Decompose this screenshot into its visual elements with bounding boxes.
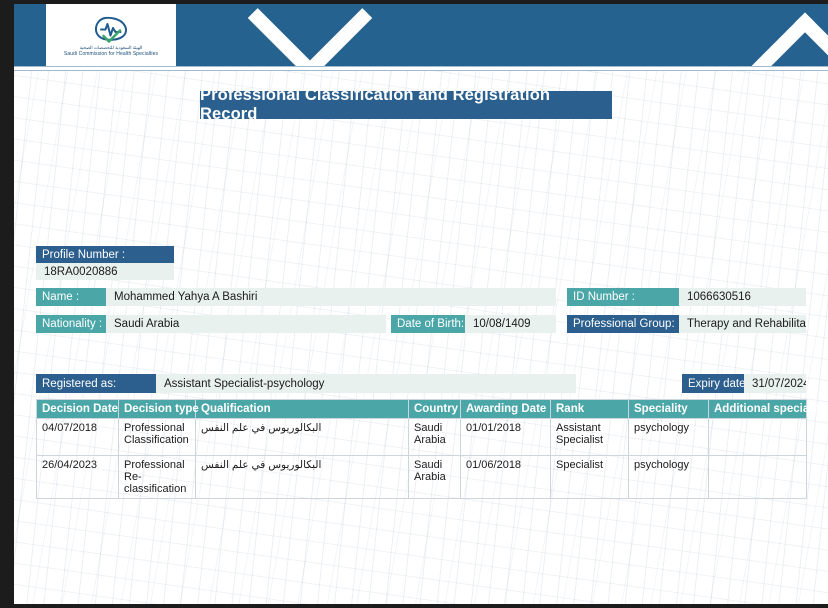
nationality-value: Saudi Arabia <box>106 315 386 333</box>
column-header-awarding-date: Awarding Date <box>461 400 551 419</box>
column-header-rank: Rank <box>551 400 629 419</box>
field-date-of-birth: Date of Birth: 10/08/1409 <box>391 315 556 333</box>
expiry-date-label: Expiry date : <box>682 374 744 393</box>
registered-as-label: Registered as: <box>36 374 156 393</box>
professional-group-value: Therapy and Rehabilitation <box>679 315 806 333</box>
field-expiry-date: Expiry date : 31/07/2024 <box>682 374 806 393</box>
document-body: Professional Classification and Registra… <box>14 71 828 604</box>
cell-speciality: psychology <box>629 419 709 456</box>
cell-country: Saudi Arabia <box>409 419 461 456</box>
profile-number-label: Profile Number : <box>36 246 174 263</box>
registration-history-table: Decision Date Decision type Qualificatio… <box>36 399 807 499</box>
field-registered-as: Registered as: Assistant Specialist-psyc… <box>36 374 576 393</box>
professional-group-label: Professional Group: <box>567 315 679 333</box>
cell-awarding-date: 01/06/2018 <box>461 456 551 499</box>
table-row: 04/07/2018 Professional Classification ا… <box>37 419 807 456</box>
cell-awarding-date: 01/01/2018 <box>461 419 551 456</box>
id-number-value: 1066630516 <box>679 288 806 306</box>
cell-speciality: psychology <box>629 456 709 499</box>
field-nationality: Nationality : Saudi Arabia <box>36 315 386 333</box>
page-title: Professional Classification and Registra… <box>200 91 612 119</box>
scfhs-lung-ecg-icon <box>90 14 132 44</box>
cell-decision-date: 04/07/2018 <box>37 419 119 456</box>
cell-rank: Specialist <box>551 456 629 499</box>
field-profile-number-label-chip: Profile Number : <box>36 246 174 263</box>
column-header-speciality: Speciality <box>629 400 709 419</box>
registered-as-value: Assistant Specialist-psychology <box>156 374 576 393</box>
chevron-up-decoration <box>739 13 828 66</box>
table-row: 26/04/2023 Professional Re-classificatio… <box>37 456 807 499</box>
document-header: الهيئة السعودية للتخصصات الصحية Saudi Co… <box>14 4 828 66</box>
cell-decision-date: 26/04/2023 <box>37 456 119 499</box>
logo-english-name: Saudi Commission for Health Specialties <box>64 51 158 57</box>
cell-country: Saudi Arabia <box>409 456 461 499</box>
date-of-birth-label: Date of Birth: <box>391 315 465 333</box>
nationality-label: Nationality : <box>36 315 106 333</box>
profile-number-value: 18RA0020886 <box>36 263 174 280</box>
certificate-page: الهيئة السعودية للتخصصات الصحية Saudi Co… <box>14 4 828 604</box>
scfhs-logo: الهيئة السعودية للتخصصات الصحية Saudi Co… <box>46 4 176 66</box>
cell-additional-speciality <box>709 456 807 499</box>
cell-decision-type: Professional Classification <box>119 419 196 456</box>
cell-additional-speciality <box>709 419 807 456</box>
cell-decision-type: Professional Re-classification <box>119 456 196 499</box>
cell-rank: Assistant Specialist <box>551 419 629 456</box>
column-header-decision-date: Decision Date <box>37 400 119 419</box>
name-label: Name : <box>36 288 106 306</box>
column-header-country: Country <box>409 400 461 419</box>
field-id-number: ID Number : 1066630516 <box>567 288 806 306</box>
field-professional-group: Professional Group: Therapy and Rehabili… <box>567 315 806 333</box>
cell-qualification: البكالوريوس في علم النفس <box>196 419 409 456</box>
chevron-down-decoration <box>248 4 372 66</box>
column-header-additional-speciality: Additional speciality <box>709 400 807 419</box>
cell-qualification: البكالوريوس في علم النفس <box>196 456 409 499</box>
field-name: Name : Mohammed Yahya A Bashiri <box>36 288 556 306</box>
name-value: Mohammed Yahya A Bashiri <box>106 288 556 306</box>
date-of-birth-value: 10/08/1409 <box>465 315 556 333</box>
table-header-row: Decision Date Decision type Qualificatio… <box>37 400 807 419</box>
column-header-qualification: Qualification <box>196 400 409 419</box>
id-number-label: ID Number : <box>567 288 679 306</box>
column-header-decision-type: Decision type <box>119 400 196 419</box>
expiry-date-value: 31/07/2024 <box>744 374 806 393</box>
